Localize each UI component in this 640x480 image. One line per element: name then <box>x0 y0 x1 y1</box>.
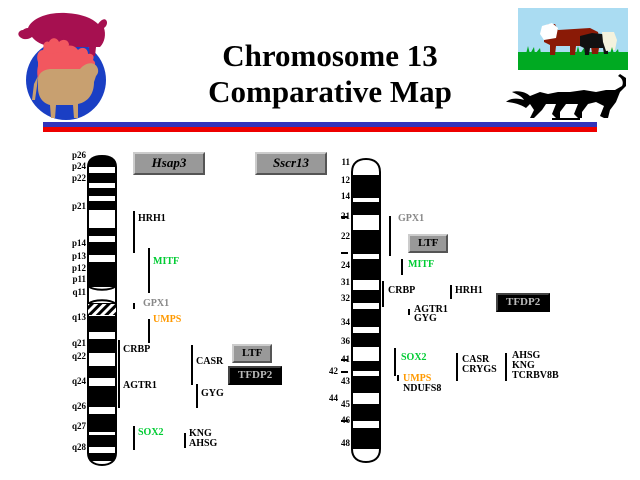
pig-band-tick <box>341 420 348 422</box>
human-band-label: q13 <box>58 312 86 322</box>
pig-band-label: 36 <box>322 336 350 346</box>
livestock-genome-logo <box>8 6 128 126</box>
pig-gene-span-bar <box>456 353 458 381</box>
human-gene-label[interactable]: GYG <box>201 388 224 399</box>
pig-gene-span-bar <box>394 348 396 376</box>
page-title: Chromosome 13 Comparative Map <box>180 38 480 110</box>
human-band-label: q11 <box>58 287 86 297</box>
pig-gene-label[interactable]: HRH1 <box>455 285 483 296</box>
pig-chromosome-13-ideogram <box>350 158 382 463</box>
pig-gene-label[interactable]: GYG <box>414 313 437 324</box>
pig-gene-span-bar <box>389 216 391 256</box>
divider-red <box>43 127 597 132</box>
human-band-label: p22 <box>58 173 86 183</box>
human-band-label: q24 <box>58 376 86 386</box>
human-gene-label[interactable]: AHSG <box>189 438 217 449</box>
human-gene-span-bar <box>133 211 135 253</box>
pig-band-label: 48 <box>322 438 350 448</box>
human-gene-plate[interactable]: LTF <box>232 344 272 363</box>
human-band-label: p14 <box>58 238 86 248</box>
pig-band-label: 42 <box>310 366 338 376</box>
pig-gene-label[interactable]: TCRBV8B <box>512 370 559 381</box>
human-band-label: p13 <box>58 251 86 261</box>
human-gene-label[interactable]: AGTR1 <box>123 380 157 391</box>
pig-gene-plate[interactable]: LTF <box>408 234 448 253</box>
pig-gene-span-bar <box>401 259 403 275</box>
pig-gene-span-bar <box>505 353 507 381</box>
chromosome-plate-sscr13[interactable]: Sscr13 <box>255 152 327 175</box>
human-gene-label[interactable]: SOX2 <box>138 427 164 438</box>
pig-band-label: 43 <box>322 376 350 386</box>
cattle-pasture-photo <box>518 8 628 70</box>
human-gene-label[interactable]: CASR <box>196 356 223 367</box>
human-gene-label[interactable]: HRH1 <box>138 213 166 224</box>
pig-gene-label[interactable]: GPX1 <box>398 213 424 224</box>
pig-band-tick <box>341 371 348 373</box>
human-band-label: q21 <box>58 338 86 348</box>
human-band-label: q28 <box>58 442 86 452</box>
human-band-label: p12 <box>58 263 86 273</box>
pig-gene-label[interactable]: CRBP <box>388 285 415 296</box>
human-gene-span-bar <box>133 426 135 450</box>
pig-band-label: 32 <box>322 293 350 303</box>
human-gene-span-bar <box>196 384 198 408</box>
pig-gene-plate[interactable]: TFDP2 <box>496 293 550 312</box>
pig-gene-label[interactable]: MITF <box>408 259 434 270</box>
human-band-label: q22 <box>58 351 86 361</box>
human-chromosome-3-ideogram <box>86 155 120 467</box>
pig-gene-label[interactable]: CRYGS <box>462 364 497 375</box>
human-gene-plate[interactable]: TFDP2 <box>228 366 282 385</box>
pig-band-label: 31 <box>322 277 350 287</box>
running-horse-silhouette <box>500 70 630 125</box>
human-band-label: p21 <box>58 201 86 211</box>
pig-gene-label[interactable]: NDUFS8 <box>403 383 441 394</box>
human-band-label: q26 <box>58 401 86 411</box>
pig-gene-span-bar <box>397 375 399 381</box>
pig-band-label: 45 <box>322 399 350 409</box>
human-gene-label[interactable]: UMPS <box>153 314 181 325</box>
human-band-label: q27 <box>58 421 86 431</box>
human-band-label: p26 <box>58 150 86 160</box>
pig-gene-label[interactable]: SOX2 <box>401 352 427 363</box>
pig-band-label: 22 <box>322 231 350 241</box>
page-title-line1: Chromosome 13 <box>180 38 480 74</box>
human-gene-label[interactable]: MITF <box>153 256 179 267</box>
human-gene-span-bar <box>191 345 193 385</box>
human-band-label: p24 <box>58 161 86 171</box>
pig-gene-span-bar <box>408 309 410 315</box>
pig-band-label: 12 <box>322 175 350 185</box>
pig-band-label: 34 <box>322 317 350 327</box>
page-title-line2: Comparative Map <box>180 74 480 110</box>
pig-band-label: 24 <box>322 260 350 270</box>
human-band-label: p11 <box>58 274 86 284</box>
pig-gene-span-bar <box>450 285 452 299</box>
human-gene-span-bar <box>148 319 150 343</box>
pig-band-label: 14 <box>322 191 350 201</box>
human-gene-span-bar <box>118 344 120 408</box>
human-gene-label[interactable]: CRBP <box>123 344 150 355</box>
human-gene-span-bar <box>184 433 186 448</box>
human-gene-label[interactable]: GPX1 <box>143 298 169 309</box>
human-gene-span-bar <box>133 303 135 309</box>
chromosome-plate-hsap3[interactable]: Hsap3 <box>133 152 205 175</box>
pig-band-tick <box>341 252 348 254</box>
human-gene-span-bar <box>148 248 150 293</box>
pig-gene-span-bar <box>382 281 384 307</box>
pig-band-tick <box>341 216 348 218</box>
pig-band-tick <box>341 359 348 361</box>
